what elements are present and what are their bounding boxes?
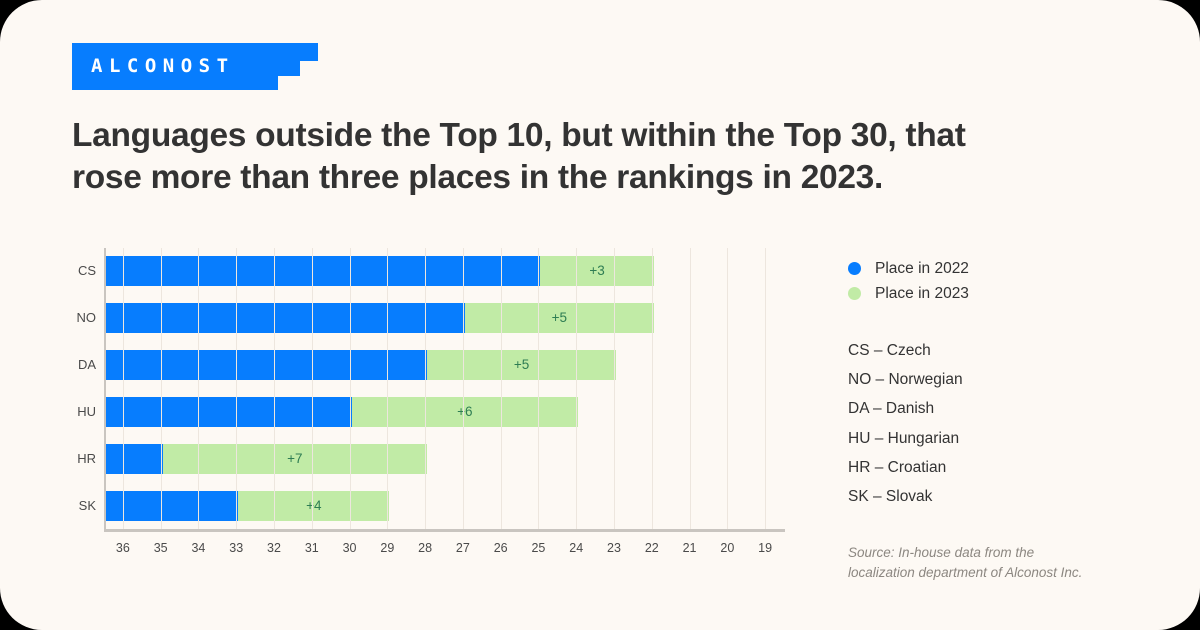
chart-row[interactable]: HU+6 (104, 391, 784, 433)
x-axis-tick-label: 24 (556, 541, 596, 555)
page-title-line-2: rose more than three places in the ranki… (72, 157, 1112, 199)
logo-block-step-large (278, 43, 300, 76)
legend-item-label: Place in 2023 (875, 285, 969, 303)
x-axis-tick-label: 30 (330, 541, 370, 555)
x-gridline (765, 248, 766, 529)
x-gridline (690, 248, 691, 529)
alconost-logo: ALCONOST (72, 43, 318, 90)
x-gridline (312, 248, 313, 529)
logo-wordmark: ALCONOST (91, 56, 235, 76)
chart-row[interactable]: SK+4 (104, 485, 784, 527)
bar-segment-place-2022[interactable] (106, 350, 427, 380)
x-axis-tick-label: 21 (670, 541, 710, 555)
x-axis-tick-label: 33 (216, 541, 256, 555)
language-key-item: NO – Norwegian (848, 365, 1148, 394)
chart-legend: Place in 2022Place in 2023 (848, 256, 1148, 306)
source-note-line-1: Source: In-house data from the (848, 543, 1148, 563)
y-axis-category-label: SK (62, 485, 96, 527)
x-axis-tick-label: 20 (707, 541, 747, 555)
page-title: Languages outside the Top 10, but within… (72, 115, 1112, 199)
language-key-item: CS – Czech (848, 336, 1148, 365)
bar-segment-place-2022[interactable] (106, 491, 238, 521)
legend-item[interactable]: Place in 2022 (848, 256, 1148, 281)
legend-swatch-icon (848, 262, 861, 275)
x-gridline (198, 248, 199, 529)
x-gridline (576, 248, 577, 529)
stacked-bar: +5 (106, 350, 786, 380)
x-axis-tick-label: 27 (443, 541, 483, 555)
x-gridline (614, 248, 615, 529)
y-axis-category-label: DA (62, 344, 96, 386)
chart-row[interactable]: HR+7 (104, 438, 784, 480)
page-title-line-1: Languages outside the Top 10, but within… (72, 115, 1112, 157)
bar-change-label: +6 (352, 397, 579, 427)
x-gridline (501, 248, 502, 529)
x-gridline (161, 248, 162, 529)
x-axis-tick-label: 35 (141, 541, 181, 555)
source-note-line-2: localization department of Alconost Inc. (848, 563, 1148, 583)
x-axis-tick-label: 25 (518, 541, 558, 555)
x-gridline (236, 248, 237, 529)
x-gridline (463, 248, 464, 529)
language-key-item: DA – Danish (848, 394, 1148, 423)
x-axis-tick-label: 36 (103, 541, 143, 555)
y-axis-category-label: HR (62, 438, 96, 480)
x-gridline (425, 248, 426, 529)
logo-block-step-small (300, 43, 318, 61)
x-gridline (727, 248, 728, 529)
y-axis-line (104, 248, 106, 531)
x-axis-line (104, 529, 785, 532)
chart-side-panel: Place in 2022Place in 2023 CS – CzechNO … (848, 256, 1148, 582)
x-gridline (652, 248, 653, 529)
source-note: Source: In-house data from the localizat… (848, 543, 1148, 582)
y-axis-category-label: HU (62, 391, 96, 433)
legend-swatch-icon (848, 287, 861, 300)
y-axis-category-label: CS (62, 250, 96, 292)
stacked-bar: +3 (106, 256, 786, 286)
stacked-bar: +6 (106, 397, 786, 427)
bar-change-label: +5 (465, 303, 654, 333)
chart-row[interactable]: NO+5 (104, 297, 784, 339)
chart-plot-area: CS+3NO+5DA+5HU+6HR+7SK+4 (104, 248, 784, 531)
language-code-key: CS – CzechNO – NorwegianDA – DanishHU – … (848, 336, 1148, 511)
x-gridline (538, 248, 539, 529)
bar-change-label: +5 (427, 350, 616, 380)
infographic-card: ALCONOST Languages outside the Top 10, b… (0, 0, 1200, 630)
x-gridline (350, 248, 351, 529)
x-axis-tick-label: 31 (292, 541, 332, 555)
language-key-item: HR – Croatian (848, 453, 1148, 482)
bar-chart: CS+3NO+5DA+5HU+6HR+7SK+4 363534333231302… (64, 248, 794, 563)
bar-change-label: +3 (540, 256, 653, 286)
bar-segment-place-2022[interactable] (106, 256, 540, 286)
x-axis-tick-label: 34 (178, 541, 218, 555)
chart-row[interactable]: DA+5 (104, 344, 784, 386)
x-axis-tick-label: 26 (481, 541, 521, 555)
bar-change-label: +4 (238, 491, 389, 521)
x-axis-tick-label: 29 (367, 541, 407, 555)
x-gridline (123, 248, 124, 529)
bar-segment-place-2022[interactable] (106, 397, 352, 427)
x-axis-tick-label: 28 (405, 541, 445, 555)
chart-row[interactable]: CS+3 (104, 250, 784, 292)
stacked-bar: +5 (106, 303, 786, 333)
x-gridline (274, 248, 275, 529)
x-gridline (387, 248, 388, 529)
stacked-bar: +7 (106, 444, 786, 474)
stacked-bar: +4 (106, 491, 786, 521)
x-axis-tick-label: 32 (254, 541, 294, 555)
legend-item[interactable]: Place in 2023 (848, 281, 1148, 306)
language-key-item: SK – Slovak (848, 482, 1148, 511)
x-axis-tick-label: 22 (632, 541, 672, 555)
legend-item-label: Place in 2022 (875, 260, 969, 278)
x-axis-tick-label: 23 (594, 541, 634, 555)
y-axis-category-label: NO (62, 297, 96, 339)
bar-segment-place-2022[interactable] (106, 444, 163, 474)
x-axis-tick-label: 19 (745, 541, 785, 555)
language-key-item: HU – Hungarian (848, 424, 1148, 453)
